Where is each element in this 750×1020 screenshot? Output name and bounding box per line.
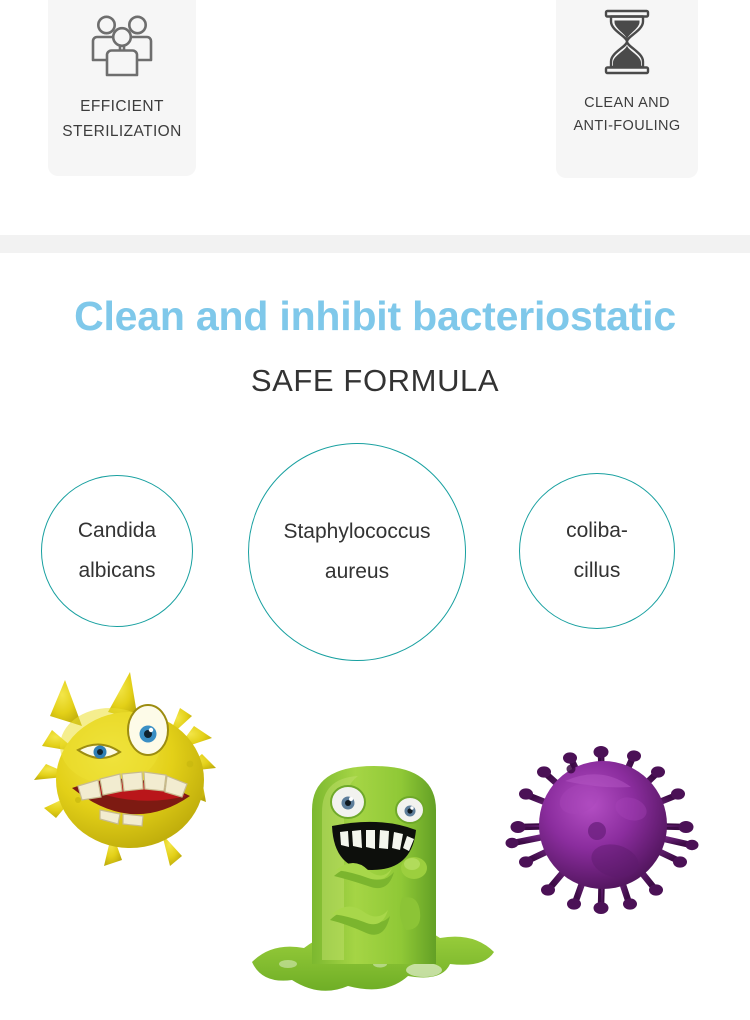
promo-page: EFFICIENT STERILIZATION CLEAN AND ANTI-F… xyxy=(0,0,750,1020)
section-divider xyxy=(0,235,750,253)
feature-card-label: CLEAN AND ANTI-FOULING xyxy=(573,92,680,139)
pathogen-name-line1: Staphylococcus xyxy=(283,512,430,552)
pathogen-name-line2: albicans xyxy=(78,551,156,591)
pathogen-circle-candida-albicans[interactable]: Candida albicans xyxy=(41,475,193,627)
pathogen-name-line1: Candida xyxy=(78,511,156,551)
pathogen-name-line2: cillus xyxy=(566,551,628,591)
feature-card-clean-anti-fouling[interactable]: CLEAN AND ANTI-FOULING xyxy=(556,0,698,178)
pathogen-name-line2: aureus xyxy=(283,552,430,592)
pathogen-name-line1: coliba- xyxy=(566,511,628,551)
page-subtitle: SAFE FORMULA xyxy=(0,363,750,399)
page-title: Clean and inhibit bacteriostatic xyxy=(0,294,750,339)
feature-card-efficient-sterilization[interactable]: EFFICIENT STERILIZATION xyxy=(48,0,196,176)
group-people-icon xyxy=(90,10,154,80)
pathogen-circle-staphylococcus-aureus[interactable]: Staphylococcus aureus xyxy=(248,443,466,661)
purple-virus-illustration xyxy=(505,733,701,923)
yellow-spiky-germ-illustration xyxy=(30,668,230,873)
pathogen-circle-colibacillus[interactable]: coliba- cillus xyxy=(519,473,675,629)
feature-card-label: EFFICIENT STERILIZATION xyxy=(62,94,181,144)
green-rod-bacteria-illustration xyxy=(244,748,506,1000)
hourglass-icon xyxy=(600,8,654,76)
